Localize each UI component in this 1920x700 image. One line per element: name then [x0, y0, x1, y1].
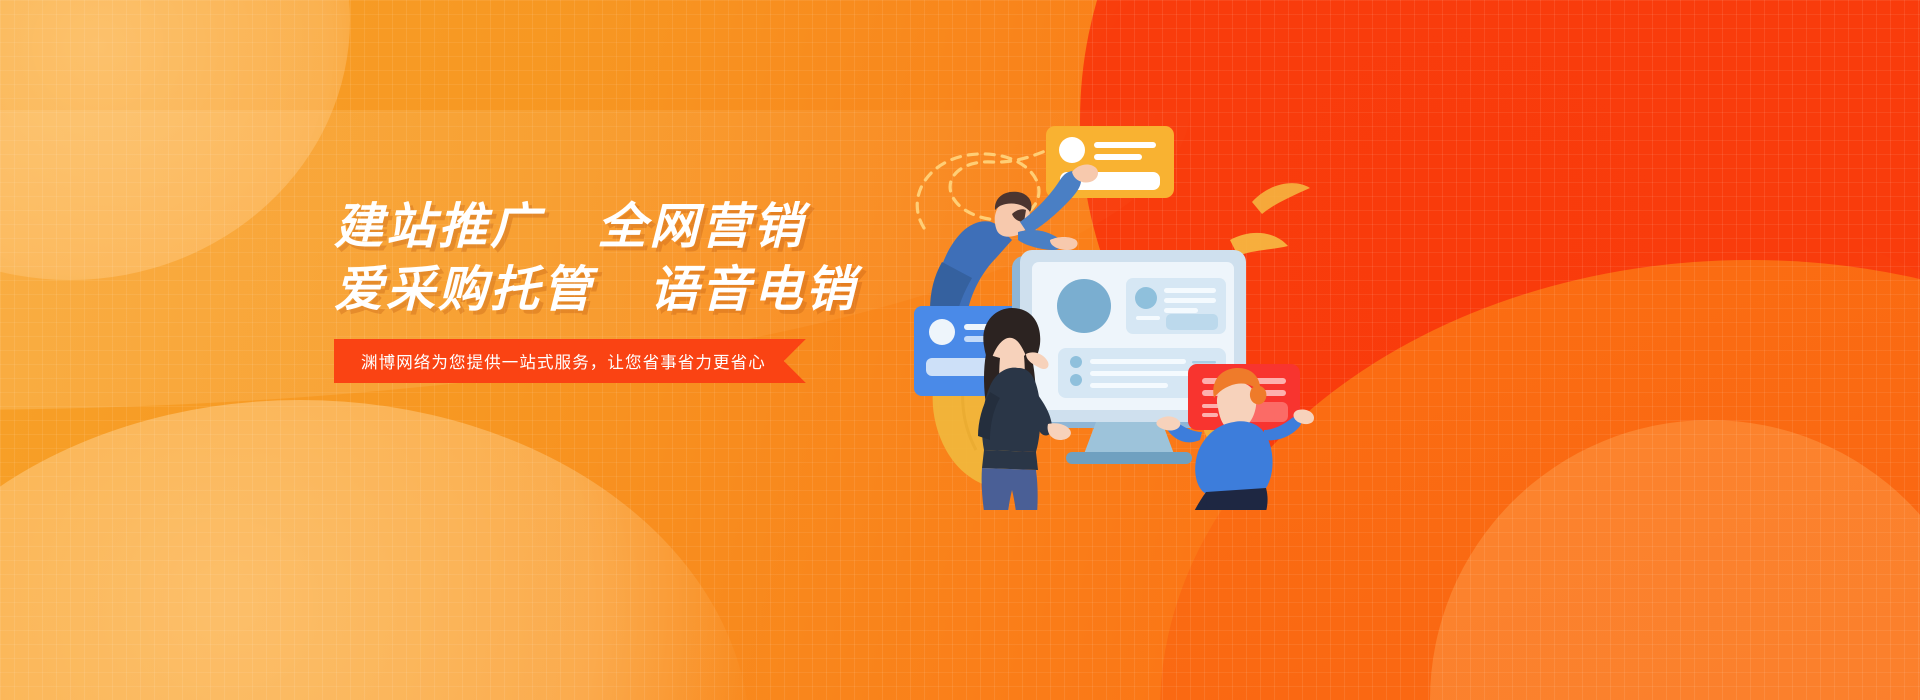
headline-line-1-left: 建站推广	[334, 200, 542, 254]
headline-line-2-right: 语音电销	[649, 263, 857, 317]
banner-hero: 建站推广 全网营销 爱采购托管 语音电销 渊博网络为您提供一站式服务，让您省事省…	[0, 0, 1920, 700]
tagline-text: 渊博网络为您提供一站式服务，让您省事省力更省心	[361, 349, 766, 373]
headline-line-2: 爱采购托管 语音电销	[334, 259, 1114, 322]
headline-line-1-right: 全网营销	[597, 200, 805, 254]
headline-block: 建站推广 全网营销 爱采购托管 语音电销	[334, 196, 1114, 322]
headline-line-1: 建站推广 全网营销	[334, 196, 1114, 259]
tagline-ribbon: 渊博网络为您提供一站式服务，让您省事省力更省心	[334, 339, 806, 383]
headline-line-2-left: 爱采购托管	[334, 263, 594, 317]
